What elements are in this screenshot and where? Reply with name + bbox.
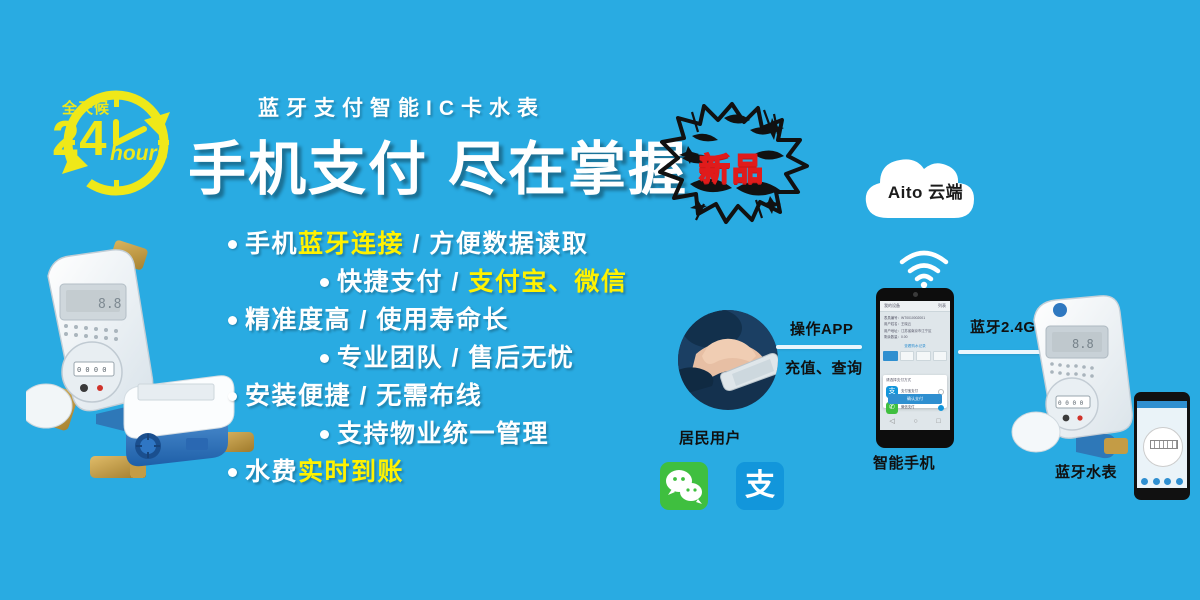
connector-line-app [776, 345, 862, 349]
bullet-dot-icon [228, 392, 237, 401]
payment-card-title: 请选择支付方式 [886, 378, 944, 383]
bullet-dot-icon [320, 354, 329, 363]
smartphone-label: 智能手机 [873, 452, 935, 473]
phone-camera-icon [913, 292, 918, 297]
payment-app-icons: 支 [660, 462, 784, 510]
bullet-dot-icon [320, 278, 329, 287]
app-titlebar [1137, 401, 1187, 408]
payment-option-wechat-label: 微信支付 [901, 405, 915, 410]
confirm-payment-button[interactable]: 确认支付 [888, 394, 942, 404]
wechat-app-icon[interactable] [660, 462, 708, 510]
tab-history[interactable] [916, 351, 931, 361]
badge-hours-text: hours [110, 142, 168, 166]
small-phone-screen [1137, 401, 1187, 488]
feature-bullet-1-text: 快捷支付 / 支付宝、微信 [337, 270, 627, 295]
cloud-label: Aito 云端 [858, 178, 993, 203]
feature-bullet-5-text: 支持物业统一管理 [337, 422, 549, 447]
feature-bullet-5: 支持物业统一管理 [320, 422, 698, 447]
app-tab-row [880, 349, 950, 363]
app-header-right: 列表 [938, 303, 946, 309]
home-icon[interactable]: ○ [913, 418, 917, 425]
promo-banner: 全天候 24 hours 蓝牙支付智能IC卡水表 手机支付尽在掌握 新品 [0, 0, 1200, 600]
feature-bullet-2: 精准度高 / 使用寿命长 [228, 308, 698, 333]
feature-bullet-2-text: 精准度高 / 使用寿命长 [245, 308, 509, 333]
banner-title: 手机支付尽在掌握 [188, 122, 688, 206]
feature-bullet-4-text: 安装便捷 / 无需布线 [245, 384, 482, 409]
action-icon-1[interactable] [1141, 478, 1148, 485]
resident-user-label: 居民用户 [679, 427, 741, 448]
alipay-app-icon[interactable]: 支 [736, 462, 784, 510]
operate-app-label: 操作APP [790, 318, 853, 339]
meter-dial-graphic [1143, 427, 1183, 467]
info-line-3: 剩余数量：0.00 [884, 334, 946, 340]
radio-wechat[interactable] [938, 405, 944, 411]
action-icon-4[interactable] [1176, 478, 1183, 485]
all-weather-24h-badge: 全天候 24 hours [48, 88, 188, 198]
android-navbar: ◁ ○ □ [880, 414, 950, 428]
recents-icon[interactable]: □ [936, 418, 940, 425]
alipay-glyph-icon: 支 [736, 462, 784, 510]
feature-bullet-4: 安装便捷 / 无需布线 [228, 384, 698, 409]
smartphone-mockup: 我的设备 列表 表具编号：WT0010002001 用户姓名：王晓云 用户地址：… [876, 288, 954, 448]
cloud-service: Aito 云端 [858, 152, 993, 232]
app-header: 我的设备 列表 [880, 301, 950, 312]
title-part-1: 手机支付 [188, 137, 428, 202]
bullet-dot-icon [228, 468, 237, 477]
bullet-dot-icon [228, 316, 237, 325]
bluetooth-water-meter-image: 8.8 0 0 0 0 [1010, 292, 1140, 467]
tab-recharge[interactable] [883, 351, 898, 361]
badge-number: 24 [52, 115, 107, 164]
svg-text:8.8: 8.8 [1072, 337, 1094, 351]
feature-bullet-6-text: 水费实时到账 [245, 460, 404, 485]
app-action-icons [1139, 478, 1185, 485]
action-icon-2[interactable] [1153, 478, 1160, 485]
back-icon[interactable]: ◁ [889, 417, 894, 425]
svg-text:8.8: 8.8 [98, 297, 121, 312]
wifi-icon [898, 250, 950, 290]
bluetooth-water-meter-label: 蓝牙水表 [1055, 461, 1117, 482]
wechat-glyph-icon [660, 462, 708, 510]
tab-query[interactable] [900, 351, 915, 361]
payment-method-card: 请选择支付方式 支 支付宝支付 ✆ 微信支付 确认支付 [883, 375, 947, 408]
meter-digits [1150, 440, 1178, 449]
action-icon-3[interactable] [1164, 478, 1171, 485]
new-product-label: 新品 [652, 144, 812, 189]
phone-screen: 我的设备 列表 表具编号：WT0010002001 用户姓名：王晓云 用户地址：… [880, 301, 950, 430]
feature-bullet-6: 水费实时到账 [228, 460, 698, 485]
new-product-badge: 新品 [652, 96, 812, 226]
bullet-dot-icon [228, 240, 237, 249]
feature-bullet-0: 手机蓝牙连接 / 方便数据读取 [228, 232, 698, 257]
resident-user-photo [678, 310, 778, 410]
meter-app-phone-mockup [1134, 392, 1190, 500]
topup-query-label: 充值、查询 [785, 357, 863, 378]
bullet-dot-icon [320, 430, 329, 439]
feature-bullet-0-text: 手机蓝牙连接 / 方便数据读取 [245, 232, 588, 257]
feature-bullet-3-text: 专业团队 / 售后无忧 [337, 346, 574, 371]
svg-text:0 0 0 0: 0 0 0 0 [1058, 400, 1084, 407]
app-header-left: 我的设备 [884, 303, 900, 309]
feature-bullet-list: 手机蓝牙连接 / 方便数据读取 快捷支付 / 支付宝、微信 精准度高 / 使用寿… [228, 232, 698, 485]
feature-bullet-1: 快捷支付 / 支付宝、微信 [320, 270, 698, 295]
banner-subtitle: 蓝牙支付智能IC卡水表 [258, 92, 545, 122]
device-info-block: 表具编号：WT0010002001 用户姓名：王晓云 用户地址：江苏省南京市江宁… [880, 312, 950, 344]
tab-refund[interactable] [933, 351, 948, 361]
feature-bullet-3: 专业团队 / 售后无忧 [320, 346, 698, 371]
